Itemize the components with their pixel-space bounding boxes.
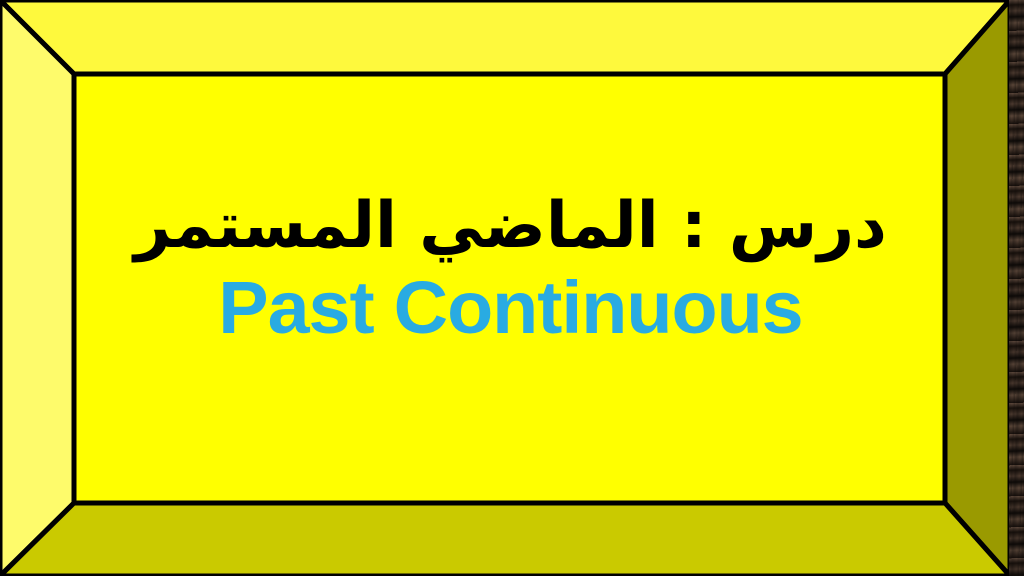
picture-frame-graphic bbox=[0, 0, 1010, 576]
frame-bevel-left bbox=[0, 0, 74, 576]
picture-frame bbox=[0, 0, 1010, 576]
frame-bevel-right bbox=[945, 0, 1010, 576]
slide-canvas: درس : الماضي المستمر Past Continuous bbox=[0, 0, 1024, 576]
frame-bevel-bottom bbox=[0, 503, 1010, 576]
frame-bevel-top bbox=[0, 0, 1010, 74]
right-edge-dark-strip bbox=[1009, 0, 1024, 576]
frame-inner-panel bbox=[74, 74, 945, 503]
